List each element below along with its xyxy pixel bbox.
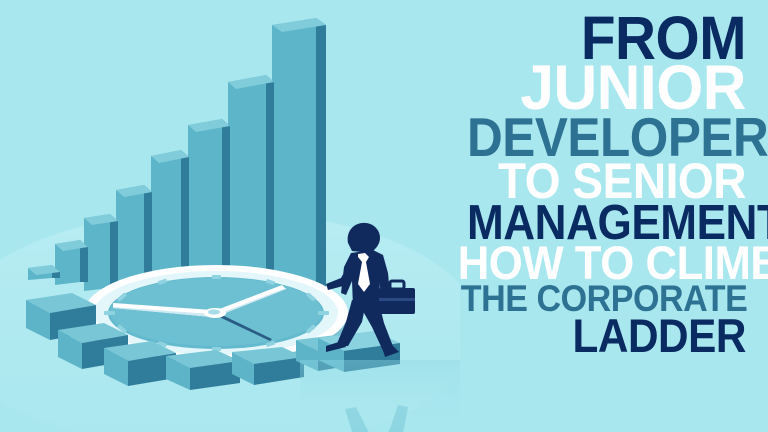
illustration-panel bbox=[0, 0, 460, 432]
headline-block: FROM JUNIOR DEVELOPER TO SENIOR MANAGEME… bbox=[436, 12, 746, 357]
poster-canvas: FROM JUNIOR DEVELOPER TO SENIOR MANAGEME… bbox=[0, 0, 768, 432]
headline-line-ladder: LADDER bbox=[467, 316, 746, 356]
headline-line-how-to-climb: HOW TO CLIMB bbox=[458, 243, 746, 283]
